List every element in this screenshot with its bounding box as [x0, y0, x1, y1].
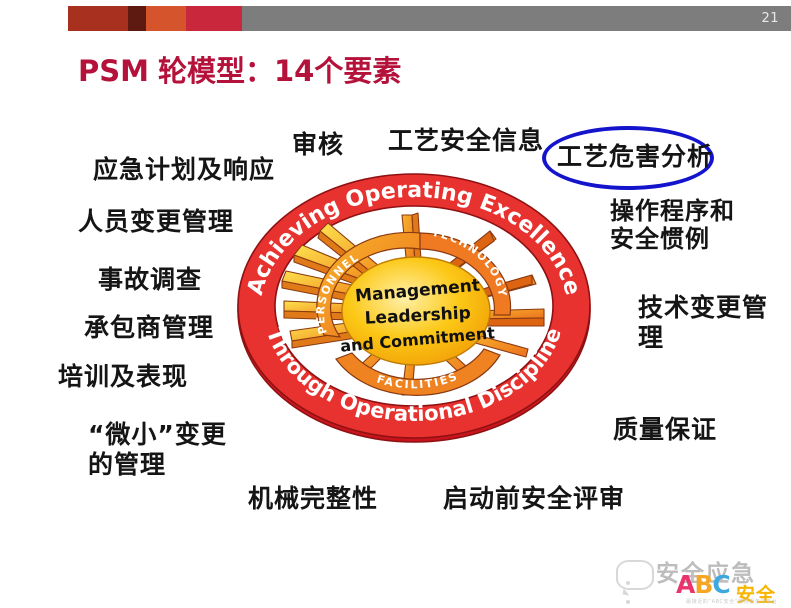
header-segment: [128, 6, 146, 31]
label-emergency-planning: 应急计划及响应: [93, 155, 275, 185]
watermark-fine-print: 最接近的“ABC安全”微信服务号平台: [686, 598, 777, 605]
label-personnel-change-mgmt: 人员变更管理: [78, 207, 234, 237]
label-audit: 审核: [292, 130, 344, 160]
label-minor-change-mgmt: “微小”变更 的管理: [88, 420, 227, 479]
page-title-en: PSM: [78, 54, 149, 88]
logo-letter-a: A: [676, 570, 694, 599]
label-process-safety-info: 工艺安全信息: [388, 126, 544, 156]
psm-wheel-diagram: Achieving Operating Excellence Through O…: [232, 163, 596, 445]
label-incident-investigation: 事故调查: [98, 265, 202, 295]
watermark: 安全应急 ABC 安全 最接近的“ABC安全”微信服务号平台: [608, 544, 783, 606]
page-number: 21: [761, 12, 779, 25]
label-training-performance: 培训及表现: [58, 362, 188, 392]
page-title: PSM轮模型：14个要素: [78, 48, 401, 90]
logo-letter-b: B: [694, 570, 712, 599]
header-segment: [146, 6, 186, 31]
watermark-logo: ABC: [676, 570, 730, 599]
label-process-hazard-analysis: 工艺危害分析: [557, 142, 713, 172]
page-title-cn: 轮模型：14个要素: [158, 54, 401, 88]
header-segment: [68, 6, 128, 31]
label-contractor-mgmt: 承包商管理: [84, 313, 214, 343]
logo-letter-c: C: [712, 570, 729, 599]
header-segment: [186, 6, 242, 31]
label-mechanical-integrity: 机械完整性: [248, 484, 378, 514]
label-operating-procedures: 操作程序和 安全惯例: [610, 197, 735, 254]
header-band: 21: [0, 6, 791, 31]
label-technical-change-mgmt: 技术变更管 理: [638, 293, 768, 352]
header-segment: [242, 6, 791, 31]
wechat-bubble-icon: [616, 560, 654, 590]
label-quality-assurance: 质量保证: [613, 415, 717, 445]
label-prestartup-review: 启动前安全评审: [443, 484, 625, 514]
